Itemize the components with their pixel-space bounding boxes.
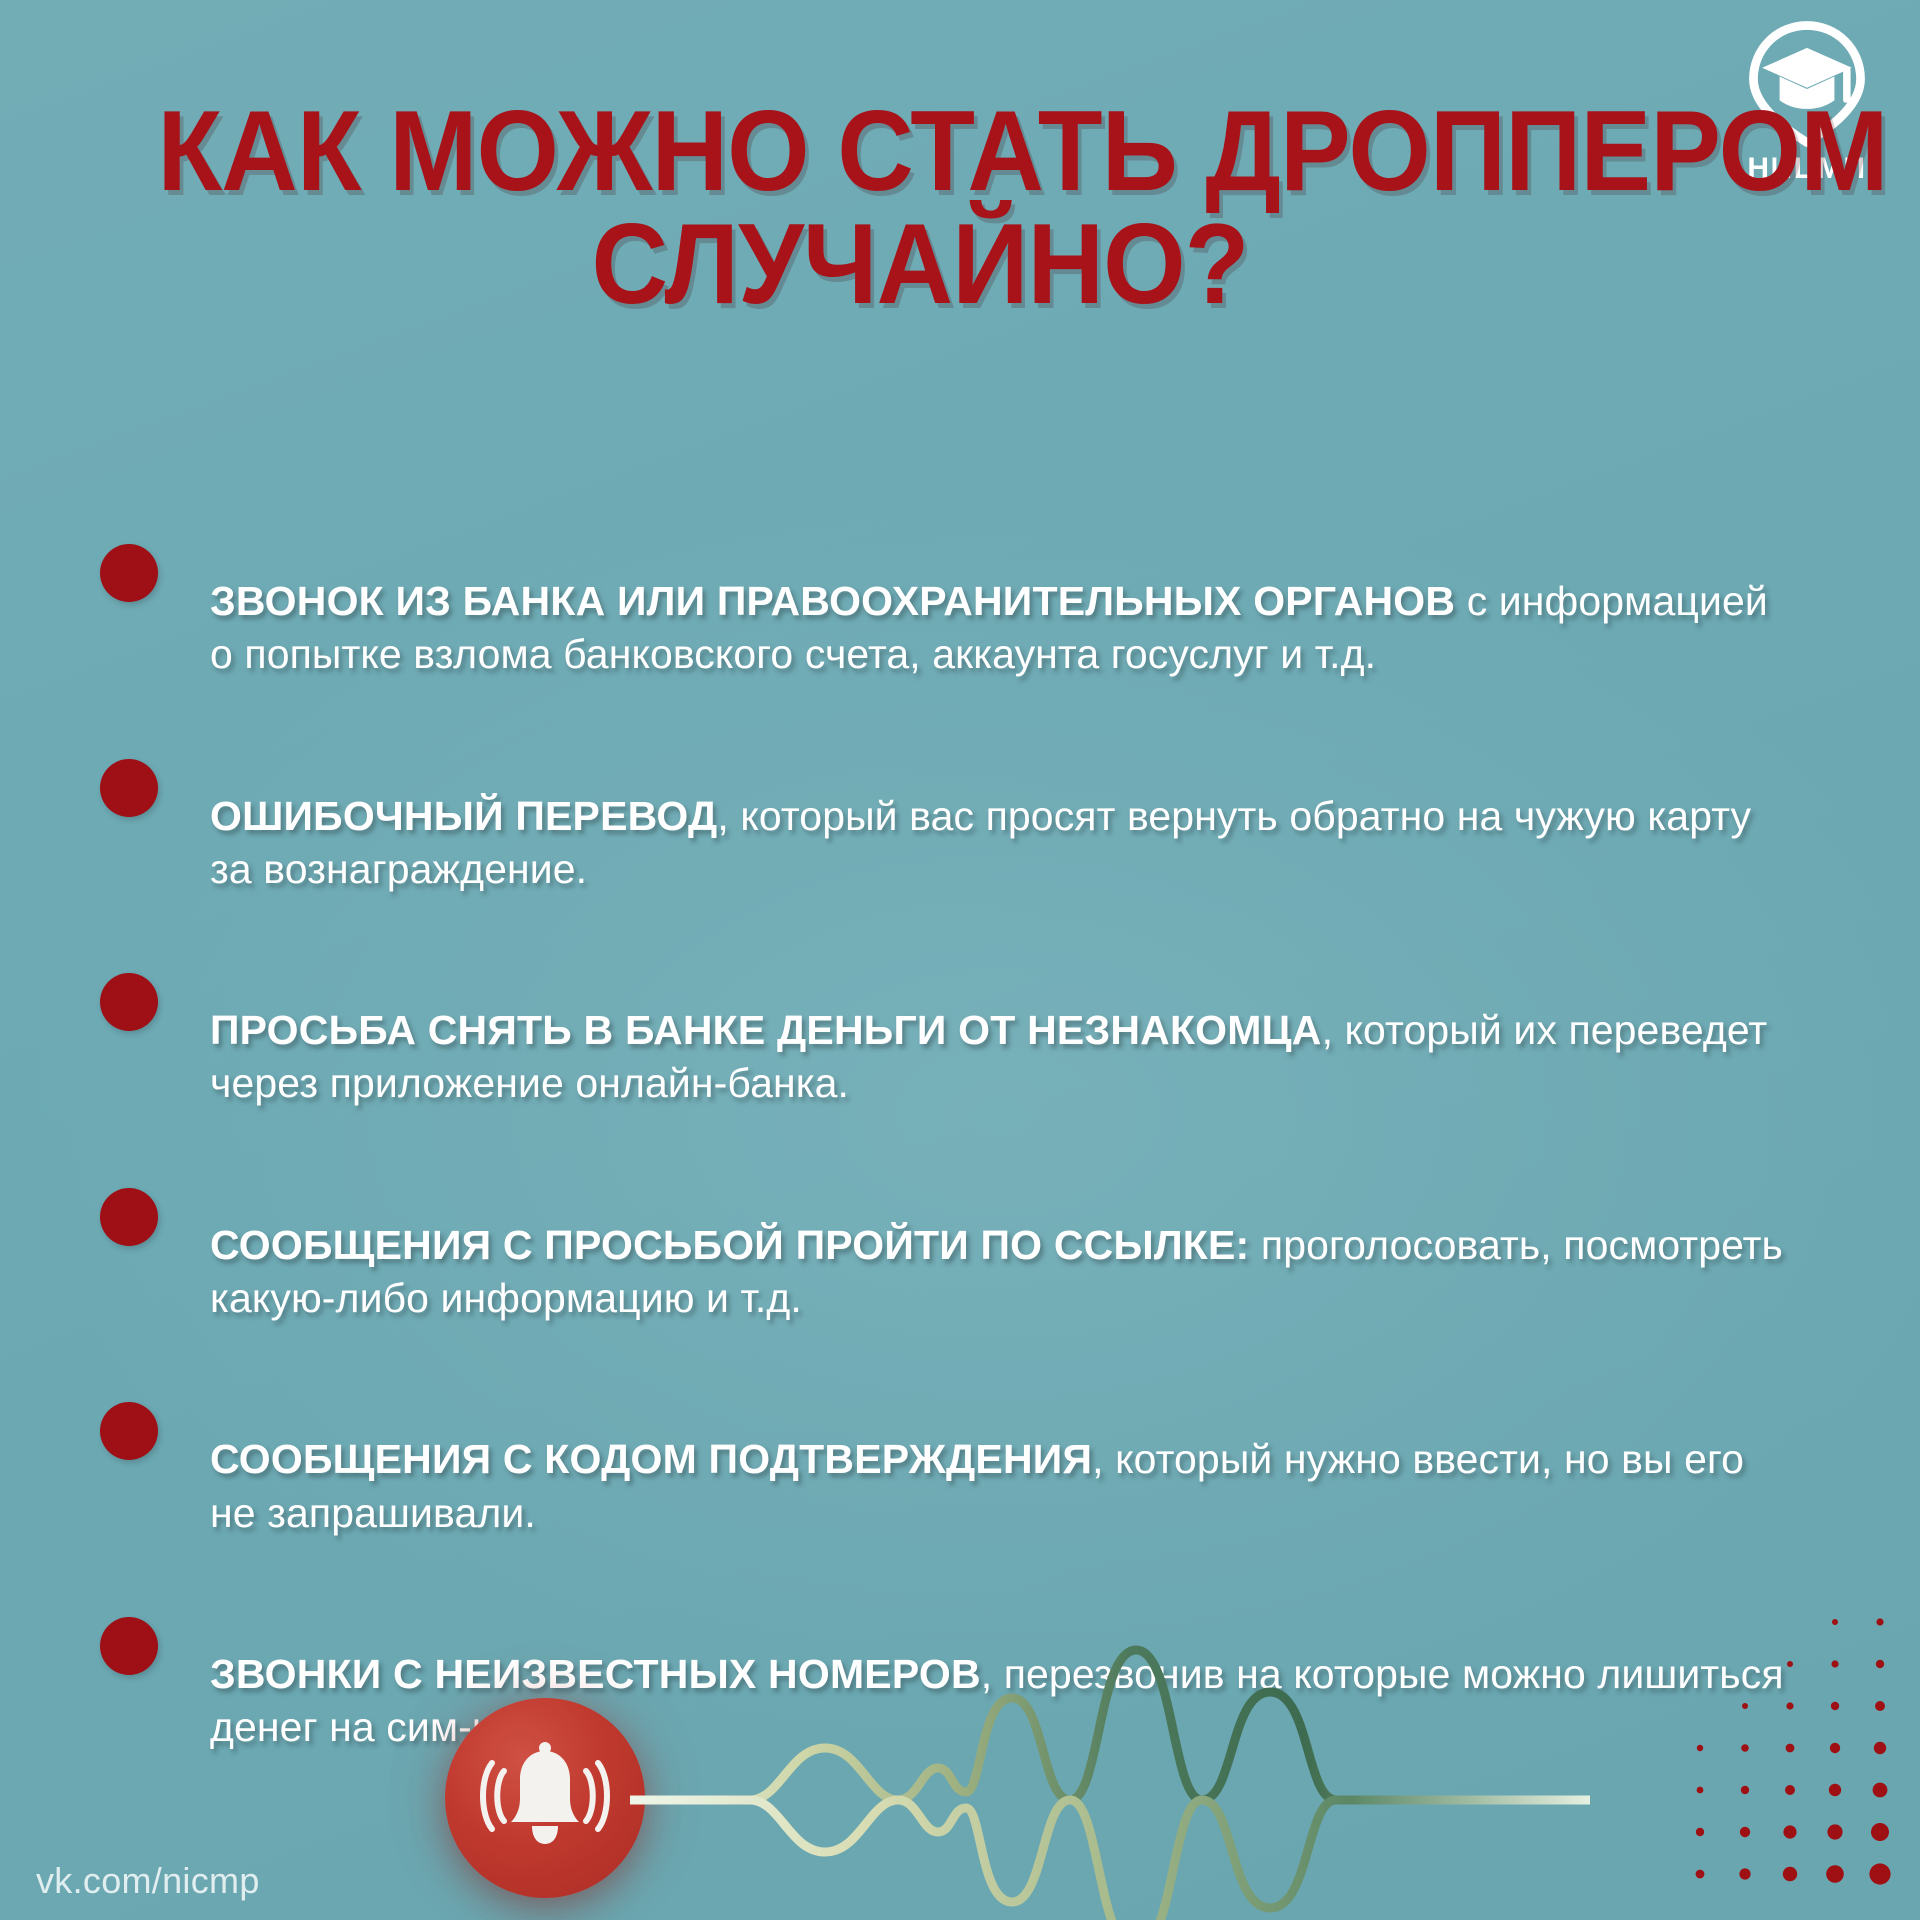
bullet-dot-icon [100,1617,158,1675]
title-line-2: СЛУЧАЙНО? [157,209,1682,322]
list-item: ПРОСЬБА СНЯТЬ В БАНКЕ ДЕНЬГИ ОТ НЕЗНАКОМ… [100,963,1800,1152]
triangular-dot-grid-decoration [1672,1608,1902,1908]
title-line-1: КАК МОЖНО СТАТЬ ДРОППЕРОМ [157,96,1682,209]
bullet-dot-icon [100,1402,158,1460]
ringing-bell-icon [470,1723,620,1873]
sound-waveform-icon [630,1640,1590,1920]
list-item-lead: ОШИБОЧНЫЙ ПЕРЕВОД [210,793,717,839]
bullet-dot-icon [100,544,158,602]
list-item: СООБЩЕНИЯ С ПРОСЬБОЙ ПРОЙТИ ПО ССЫЛКЕ: п… [100,1178,1800,1367]
list-item-text: СООБЩЕНИЯ С ПРОСЬБОЙ ПРОЙТИ ПО ССЫЛКЕ: п… [210,1219,1800,1326]
list-item-text: ЗВОНОК ИЗ БАНКА ИЛИ ПРАВООХРАНИТЕЛЬНЫХ О… [210,575,1800,682]
list-item: ЗВОНОК ИЗ БАНКА ИЛИ ПРАВООХРАНИТЕЛЬНЫХ О… [100,534,1800,723]
bullet-dot-icon [100,759,158,817]
vk-link[interactable]: vk.com/nicmp [36,1860,260,1902]
infographic-poster: НИЦМП КАК МОЖНО СТАТЬ ДРОППЕРОМ СЛУЧАЙНО… [0,0,1920,1920]
page-title: КАК МОЖНО СТАТЬ ДРОППЕРОМ СЛУЧАЙНО? [0,96,1920,322]
list-item-text: ОШИБОЧНЫЙ ПЕРЕВОД, который вас просят ве… [210,790,1800,897]
bullet-dot-icon [100,1188,158,1246]
list-item-lead: ЗВОНОК ИЗ БАНКА ИЛИ ПРАВООХРАНИТЕЛЬНЫХ О… [210,578,1455,624]
list-item-lead: ПРОСЬБА СНЯТЬ В БАНКЕ ДЕНЬГИ ОТ НЕЗНАКОМ… [210,1007,1322,1053]
list-item-lead: СООБЩЕНИЯ С ПРОСЬБОЙ ПРОЙТИ ПО ССЫЛКЕ: [210,1222,1249,1268]
list-item: СООБЩЕНИЯ С КОДОМ ПОДТВЕРЖДЕНИЯ, который… [100,1392,1800,1581]
list-item-lead: СООБЩЕНИЯ С КОДОМ ПОДТВЕРЖДЕНИЯ [210,1436,1092,1482]
alert-bell-badge [445,1698,645,1898]
bullet-dot-icon [100,973,158,1031]
list-item-text: СООБЩЕНИЯ С КОДОМ ПОДТВЕРЖДЕНИЯ, который… [210,1433,1800,1540]
list-item: ОШИБОЧНЫЙ ПЕРЕВОД, который вас просят ве… [100,749,1800,938]
warning-signs-list: ЗВОНОК ИЗ БАНКА ИЛИ ПРАВООХРАНИТЕЛЬНЫХ О… [100,534,1800,1822]
list-item-text: ПРОСЬБА СНЯТЬ В БАНКЕ ДЕНЬГИ ОТ НЕЗНАКОМ… [210,1004,1800,1111]
